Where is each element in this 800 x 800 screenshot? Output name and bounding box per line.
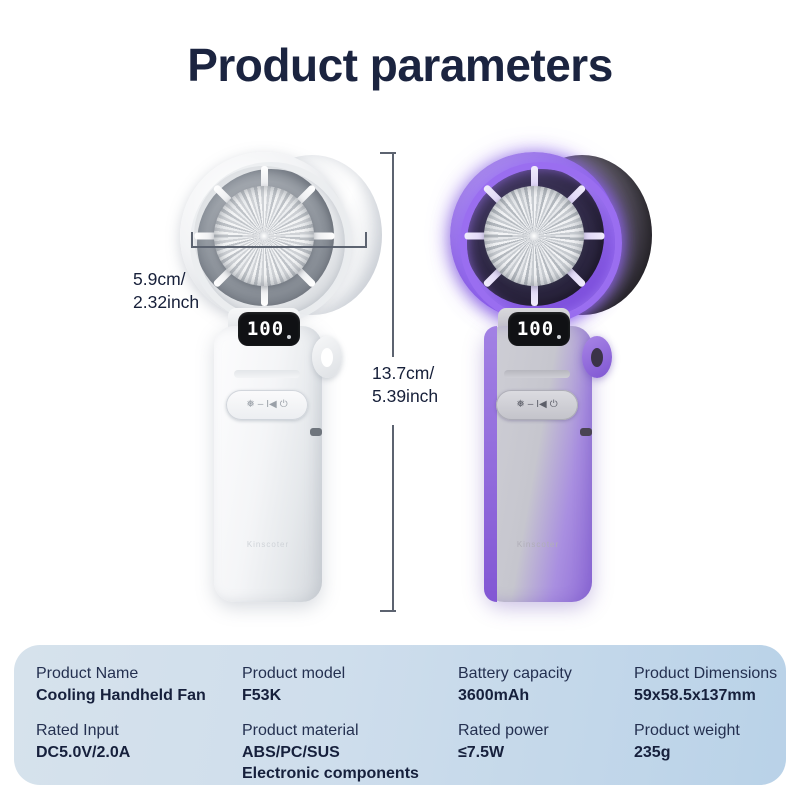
specifications-panel: Product NameCooling Handheld FanProduct … xyxy=(14,645,786,785)
led-display: 100 xyxy=(238,312,300,346)
power-icon: ⏻ xyxy=(550,400,558,410)
spec-cell: Product modelF53K xyxy=(242,663,458,706)
fan-vent-slot xyxy=(504,370,570,378)
spec-value: ≤7.5W xyxy=(458,742,634,763)
specifications-grid: Product NameCooling Handheld FanProduct … xyxy=(14,663,786,784)
spec-value: 235g xyxy=(634,742,800,763)
page-title: Product parameters xyxy=(0,38,800,92)
spec-value: F53K xyxy=(242,685,458,706)
fan-metal-hub xyxy=(484,186,584,286)
spec-value: 3600mAh xyxy=(458,685,634,706)
spec-label: Product Dimensions xyxy=(634,663,800,685)
product-image-purple-fan: 100 ❅ – I◀ ⏻ Kinscoter xyxy=(440,140,655,620)
width-measure-cap-left xyxy=(191,232,193,247)
snowflake-icon: ❅ xyxy=(246,400,254,410)
snowflake-icon: ❅ xyxy=(516,400,524,410)
height-measure-cap-bottom xyxy=(380,610,396,612)
spec-cell: Rated InputDC5.0V/2.0A xyxy=(36,720,242,784)
spec-label: Product model xyxy=(242,663,458,685)
usb-port-icon xyxy=(580,428,592,436)
minus-icon: – xyxy=(258,400,264,410)
fan-handle xyxy=(214,326,322,602)
speed-icon: I◀ xyxy=(266,400,276,410)
spec-value: Cooling Handheld Fan xyxy=(36,685,242,706)
led-display-value: 100 xyxy=(517,318,554,340)
fan-handle-edge xyxy=(484,326,497,602)
spec-label: Rated Input xyxy=(36,720,242,742)
brand-logo: Kinscoter xyxy=(222,540,314,549)
spec-label: Battery capacity xyxy=(458,663,634,685)
spec-cell: Battery capacity3600mAh xyxy=(458,663,634,706)
control-button[interactable]: ❅ – I◀ ⏻ xyxy=(226,390,308,420)
spec-label: Product material xyxy=(242,720,458,742)
spec-label: Product weight xyxy=(634,720,800,742)
spec-value: ABS/PC/SUS Electronic components xyxy=(242,742,458,784)
height-measure-line-top xyxy=(392,152,394,357)
spec-cell: Product Dimensions59x58.5x137mm xyxy=(634,663,800,706)
fan-handle xyxy=(484,326,592,602)
infographic-canvas: Product parameters 100 ❅ – I◀ xyxy=(0,0,800,800)
product-image-white-fan: 100 ❅ – I◀ ⏻ Kinscoter xyxy=(170,140,385,620)
power-icon: ⏻ xyxy=(280,400,288,410)
led-display: 100 xyxy=(508,312,570,346)
spec-cell: Rated power≤7.5W xyxy=(458,720,634,784)
spec-label: Product Name xyxy=(36,663,242,685)
spec-label: Rated power xyxy=(458,720,634,742)
lanyard-loop-icon xyxy=(312,336,342,378)
led-indicator-dot xyxy=(557,335,561,339)
usb-port-icon xyxy=(310,428,322,436)
minus-icon: – xyxy=(528,400,534,410)
height-dimension-label: 13.7cm/ 5.39inch xyxy=(372,362,438,408)
speed-icon: I◀ xyxy=(536,400,546,410)
spec-value: DC5.0V/2.0A xyxy=(36,742,242,763)
spec-value: 59x58.5x137mm xyxy=(634,685,800,706)
led-indicator-dot xyxy=(287,335,291,339)
spec-cell: Product NameCooling Handheld Fan xyxy=(36,663,242,706)
lanyard-loop-icon xyxy=(582,336,612,378)
control-button[interactable]: ❅ – I◀ ⏻ xyxy=(496,390,578,420)
height-measure-line-bottom xyxy=(392,425,394,612)
spec-cell: Product materialABS/PC/SUS Electronic co… xyxy=(242,720,458,784)
width-dimension-label: 5.9cm/ 2.32inch xyxy=(133,268,199,314)
spec-cell: Product weight235g xyxy=(634,720,800,784)
width-measure-cap-right xyxy=(365,232,367,247)
fan-metal-hub xyxy=(214,186,314,286)
led-display-value: 100 xyxy=(247,318,284,340)
brand-logo: Kinscoter xyxy=(492,540,584,549)
width-measure-line xyxy=(191,246,367,248)
fan-vent-slot xyxy=(234,370,300,378)
height-measure-cap-top xyxy=(380,152,396,154)
